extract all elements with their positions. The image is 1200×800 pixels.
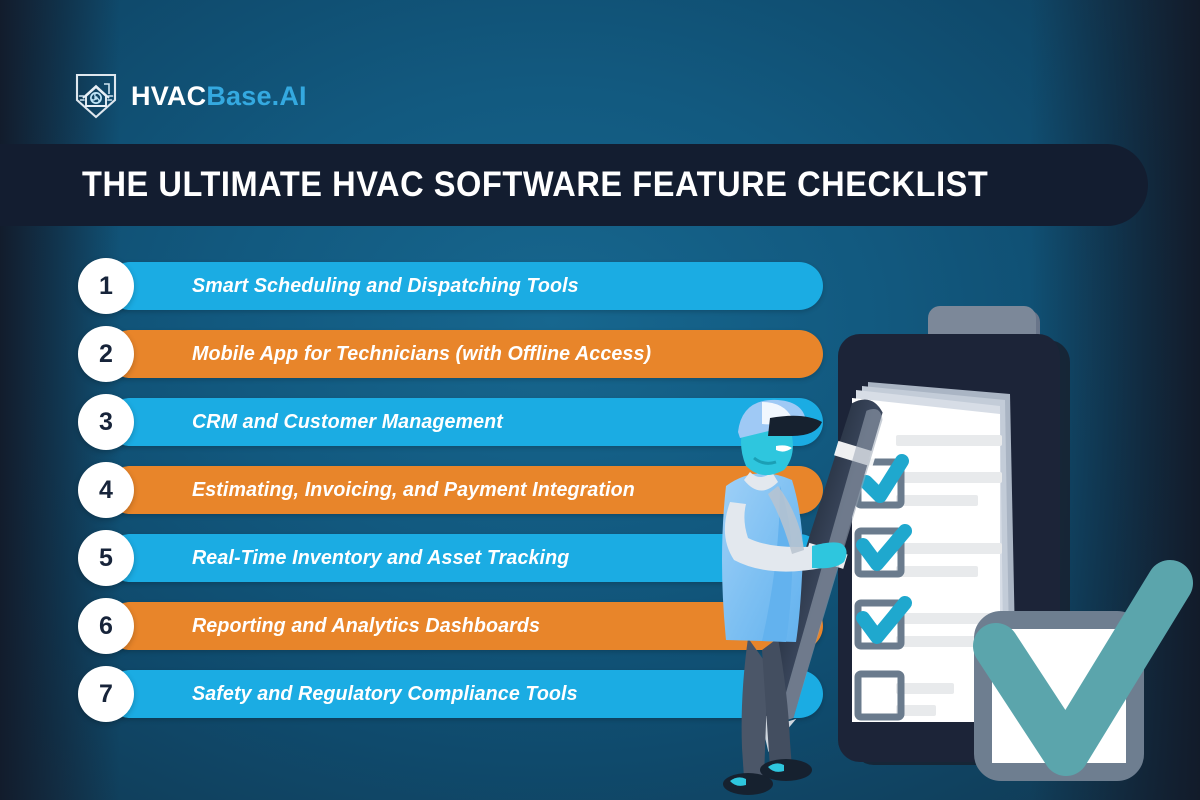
checklist-item-number: 3 [78, 394, 134, 450]
clipboard-technician-illustration [700, 290, 1200, 800]
brand-logo[interactable]: HVACBase.AI [74, 72, 307, 120]
checklist-item-number: 6 [78, 598, 134, 654]
shield-house-fan-icon [74, 72, 118, 120]
page-title: THE ULTIMATE HVAC SOFTWARE FEATURE CHECK… [82, 165, 988, 205]
brand-name-secondary: Base.AI [206, 81, 306, 111]
shoe-right [760, 759, 812, 781]
checklist-item-label: Mobile App for Technicians (with Offline… [192, 342, 651, 366]
checklist-item-number: 1 [78, 258, 134, 314]
checklist-item-label: Reporting and Analytics Dashboards [192, 614, 540, 638]
infographic-canvas: HVACBase.AI THE ULTIMATE HVAC SOFTWARE F… [0, 0, 1200, 800]
checklist-item-label: CRM and Customer Management [192, 410, 503, 434]
checklist-item-number: 4 [78, 462, 134, 518]
checklist-item-label: Smart Scheduling and Dispatching Tools [192, 274, 579, 298]
checklist-item-number: 7 [78, 666, 134, 722]
checklist-item-number: 2 [78, 326, 134, 382]
checklist-item-label: Real-Time Inventory and Asset Tracking [192, 546, 569, 570]
title-banner: THE ULTIMATE HVAC SOFTWARE FEATURE CHECK… [0, 144, 1148, 226]
brand-name-primary: HVAC [131, 81, 206, 111]
checklist-item-label: Safety and Regulatory Compliance Tools [192, 682, 578, 706]
big-check-box [983, 583, 1170, 772]
checklist-item-label: Estimating, Invoicing, and Payment Integ… [192, 478, 635, 502]
checklist-item-number: 5 [78, 530, 134, 586]
brand-wordmark: HVACBase.AI [131, 83, 307, 110]
